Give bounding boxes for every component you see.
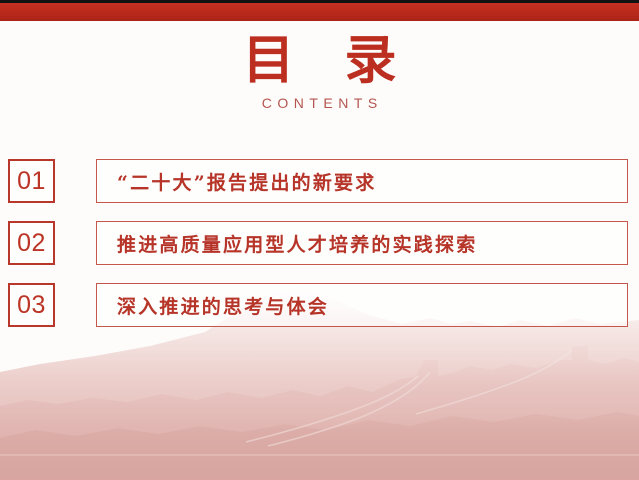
item-label: 深入推进的思考与体会 xyxy=(97,292,329,319)
slide-canvas: 目 录 CONTENTS 01 “二十大”报告提出的新要求 02 推进高质量应用… xyxy=(0,0,639,480)
item-text-box[interactable]: 深入推进的思考与体会 xyxy=(96,283,628,327)
page-title: 目 录 xyxy=(0,34,639,89)
top-red-bar xyxy=(0,3,639,21)
list-item[interactable]: 02 推进高质量应用型人才培养的实践探索 xyxy=(0,221,639,265)
item-label: 推进高质量应用型人才培养的实践探索 xyxy=(97,230,477,257)
item-label: “二十大”报告提出的新要求 xyxy=(97,168,376,195)
page-subtitle: CONTENTS xyxy=(0,95,639,111)
contents-list: 01 “二十大”报告提出的新要求 02 推进高质量应用型人才培养的实践探索 03… xyxy=(0,159,639,345)
item-number-badge: 01 xyxy=(8,159,55,203)
item-number-badge: 03 xyxy=(8,283,55,327)
list-item[interactable]: 01 “二十大”报告提出的新要求 xyxy=(0,159,639,203)
item-number-badge: 02 xyxy=(8,221,55,265)
list-item[interactable]: 03 深入推进的思考与体会 xyxy=(0,283,639,327)
item-text-box[interactable]: “二十大”报告提出的新要求 xyxy=(96,159,628,203)
page-title-group: 目 录 CONTENTS xyxy=(0,34,639,111)
item-text-box[interactable]: 推进高质量应用型人才培养的实践探索 xyxy=(96,221,628,265)
